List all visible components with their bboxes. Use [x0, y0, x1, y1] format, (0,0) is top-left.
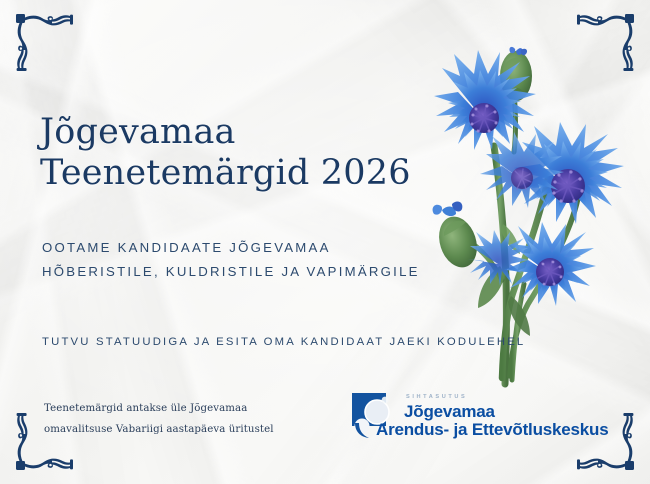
logo-line-two: Arendus- ja Ettevõtluskeskus: [376, 421, 608, 438]
corner-ornament-top-right: [564, 12, 636, 84]
logo-kicker: SIHTASUTUS: [406, 395, 608, 401]
corner-ornament-top-left: [14, 12, 86, 84]
footnote-text: Teenetemärgid antakse üle Jõgevamaa omav…: [44, 399, 274, 441]
subtitle-text: OOTAME KANDIDAATE JÕGEVAMAA HÕBERISTILE,…: [42, 236, 420, 284]
page-title: Jõgevamaa Teenetemärgid 2026: [40, 112, 411, 193]
logo-text-block: SIHTASUTUS Jõgevamaa Arendus- ja Ettevõt…: [404, 393, 608, 438]
poster-canvas: Jõgevamaa Teenetemärgid 2026 OOTAME KAND…: [0, 0, 650, 484]
organization-logo: SIHTASUTUS Jõgevamaa Arendus- ja Ettevõt…: [352, 393, 608, 439]
call-to-action-text: TUTVU STATUUDIGA JA ESITA OMA KANDIDAAT …: [42, 336, 525, 348]
logo-line-one: Jõgevamaa: [404, 403, 608, 420]
